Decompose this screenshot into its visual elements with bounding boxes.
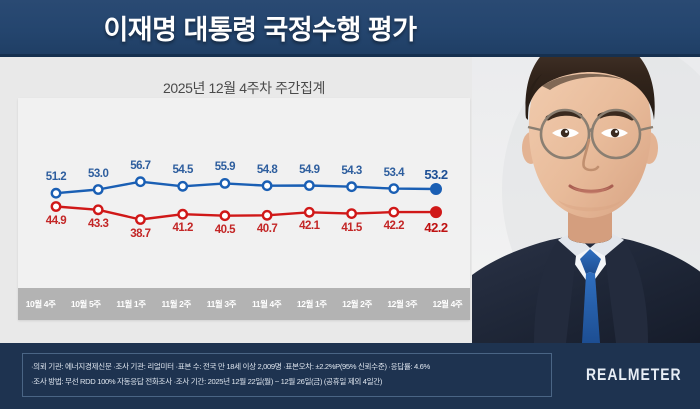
value-label-긍정평가-2: 56.7 xyxy=(130,160,150,172)
chart-x-axis: 10월 4주10월 5주11월 1주11월 2주11월 3주11월 4주12월 … xyxy=(18,288,470,320)
value-label-긍정평가-1: 53.0 xyxy=(88,168,108,180)
footer-band: ·의뢰 기관: 에너지경제신문 ·조사 기관: 리얼미터 ·표본 수: 전국 만… xyxy=(0,343,700,409)
data-point-marker xyxy=(136,215,144,223)
page-title: 이재명 대통령 국정수행 평가 xyxy=(0,8,520,47)
x-axis-tick-8: 12월 3주 xyxy=(380,298,425,310)
x-axis-tick-1: 10월 5주 xyxy=(63,298,108,310)
chart-subtitle: 2025년 12월 4주차 주간집계 xyxy=(18,78,470,98)
value-label-긍정평가-3: 54.5 xyxy=(172,164,192,176)
x-axis-tick-0: 10월 4주 xyxy=(18,298,63,310)
value-label-긍정평가-6: 54.9 xyxy=(299,164,319,176)
value-label-긍정평가-9: 53.2 xyxy=(424,167,447,182)
data-point-marker xyxy=(347,209,355,217)
data-point-marker xyxy=(221,212,229,220)
value-label-부정평가-0: 44.9 xyxy=(46,215,66,227)
value-label-부정평가-9: 42.2 xyxy=(424,220,447,235)
data-point-marker xyxy=(390,208,398,216)
poster-root: 이재명 대통령 국정수행 평가 2025년 12월 4주차 주간집계 51.25… xyxy=(0,0,700,409)
data-point-marker xyxy=(94,185,102,193)
realmeter-logo: REALMETER xyxy=(586,365,682,385)
data-point-marker xyxy=(347,183,355,191)
data-point-marker xyxy=(52,202,60,210)
value-label-부정평가-4: 40.5 xyxy=(215,224,235,236)
value-label-부정평가-7: 41.5 xyxy=(341,222,361,234)
x-axis-tick-6: 12월 1주 xyxy=(289,298,334,310)
methodology-line-2: ·조사 방법: 무선 RDD 100% 자동응답 전화조사 ·조사 기간: 20… xyxy=(31,374,543,389)
chart-panel: 51.253.056.754.555.954.854.954.353.453.2… xyxy=(18,98,470,320)
value-label-부정평가-5: 40.7 xyxy=(257,223,277,235)
x-axis-tick-4: 11월 3주 xyxy=(199,298,244,310)
data-point-marker xyxy=(305,181,313,189)
value-label-긍정평가-7: 54.3 xyxy=(341,165,361,177)
header-band: 이재명 대통령 국정수행 평가 xyxy=(0,0,700,57)
methodology-box: ·의뢰 기관: 에너지경제신문 ·조사 기관: 리얼미터 ·표본 수: 전국 만… xyxy=(22,353,552,397)
value-label-긍정평가-8: 53.4 xyxy=(384,167,404,179)
data-point-marker xyxy=(136,178,144,186)
data-point-marker xyxy=(179,210,187,218)
x-axis-tick-5: 11월 4주 xyxy=(244,298,289,310)
data-point-marker xyxy=(94,206,102,214)
data-point-marker xyxy=(263,211,271,219)
line-chart-svg xyxy=(18,98,470,288)
x-axis-tick-7: 12월 2주 xyxy=(334,298,379,310)
value-label-부정평가-1: 43.3 xyxy=(88,218,108,230)
value-label-부정평가-8: 42.2 xyxy=(384,220,404,232)
data-point-marker xyxy=(52,189,60,197)
data-point-marker xyxy=(179,182,187,190)
value-label-긍정평가-4: 55.9 xyxy=(215,161,235,173)
methodology-line-1: ·의뢰 기관: 에너지경제신문 ·조사 기관: 리얼미터 ·표본 수: 전국 만… xyxy=(31,359,543,374)
value-label-긍정평가-0: 51.2 xyxy=(46,171,66,183)
value-label-부정평가-6: 42.1 xyxy=(299,220,319,232)
data-point-marker xyxy=(221,179,229,187)
series-line-부정평가 xyxy=(56,207,436,220)
x-axis-tick-3: 11월 2주 xyxy=(154,298,199,310)
data-point-marker xyxy=(431,184,441,194)
data-point-marker xyxy=(263,182,271,190)
chart-plot-area: 51.253.056.754.555.954.854.954.353.453.2… xyxy=(18,98,470,288)
data-point-marker xyxy=(431,207,441,217)
value-label-부정평가-2: 38.7 xyxy=(130,228,150,240)
data-point-marker xyxy=(390,184,398,192)
value-label-부정평가-3: 41.2 xyxy=(172,222,192,234)
data-point-marker xyxy=(305,208,313,216)
series-line-긍정평가 xyxy=(56,182,436,194)
value-label-긍정평가-5: 54.8 xyxy=(257,164,277,176)
x-axis-tick-9: 12월 4주 xyxy=(425,298,470,310)
x-axis-tick-2: 11월 1주 xyxy=(108,298,153,310)
